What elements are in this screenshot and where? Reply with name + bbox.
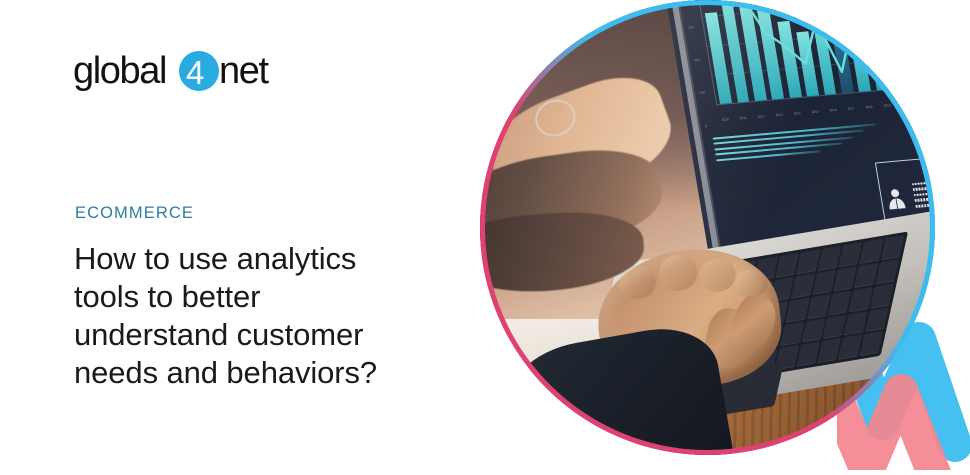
plot-area bbox=[692, 0, 909, 105]
headline-line-1: How to use analytics bbox=[74, 240, 449, 278]
y-tick: 100 bbox=[699, 91, 710, 96]
logo-badge-digit: 4 bbox=[186, 54, 204, 91]
y-tick: 300 bbox=[688, 25, 699, 30]
headline-line-4: needs and behaviors? bbox=[74, 354, 449, 392]
logo-word-net: net bbox=[219, 50, 269, 92]
category-label: ECOMMERCE bbox=[75, 205, 194, 222]
y-tick: 0 bbox=[704, 124, 715, 129]
trend-line bbox=[693, 0, 916, 148]
global4net-logo-icon: global 4 net bbox=[73, 50, 281, 94]
bar-chart: 500 400 300 200 100 0 bbox=[686, 0, 913, 128]
mini-bar bbox=[930, 128, 935, 161]
hero-photo: 500 400 300 200 100 0 bbox=[480, 0, 935, 455]
y-tick: 200 bbox=[694, 58, 705, 63]
logo-word-global: global bbox=[73, 50, 166, 92]
photo-scene: 500 400 300 200 100 0 bbox=[480, 0, 935, 455]
page-title: How to use analytics tools to better und… bbox=[74, 240, 449, 392]
profile-card-lines bbox=[904, 172, 935, 211]
text-column: global 4 net ECOMMERCE How to use analyt… bbox=[0, 0, 470, 470]
mini-bar-chart bbox=[913, 106, 935, 162]
headline-line-2: tools to better bbox=[74, 278, 449, 316]
progress-row bbox=[921, 45, 935, 60]
headline-line-3: understand customer bbox=[74, 316, 449, 354]
brand-logo[interactable]: global 4 net bbox=[73, 50, 281, 94]
artwork-column: 500 400 300 200 100 0 bbox=[455, 0, 970, 475]
